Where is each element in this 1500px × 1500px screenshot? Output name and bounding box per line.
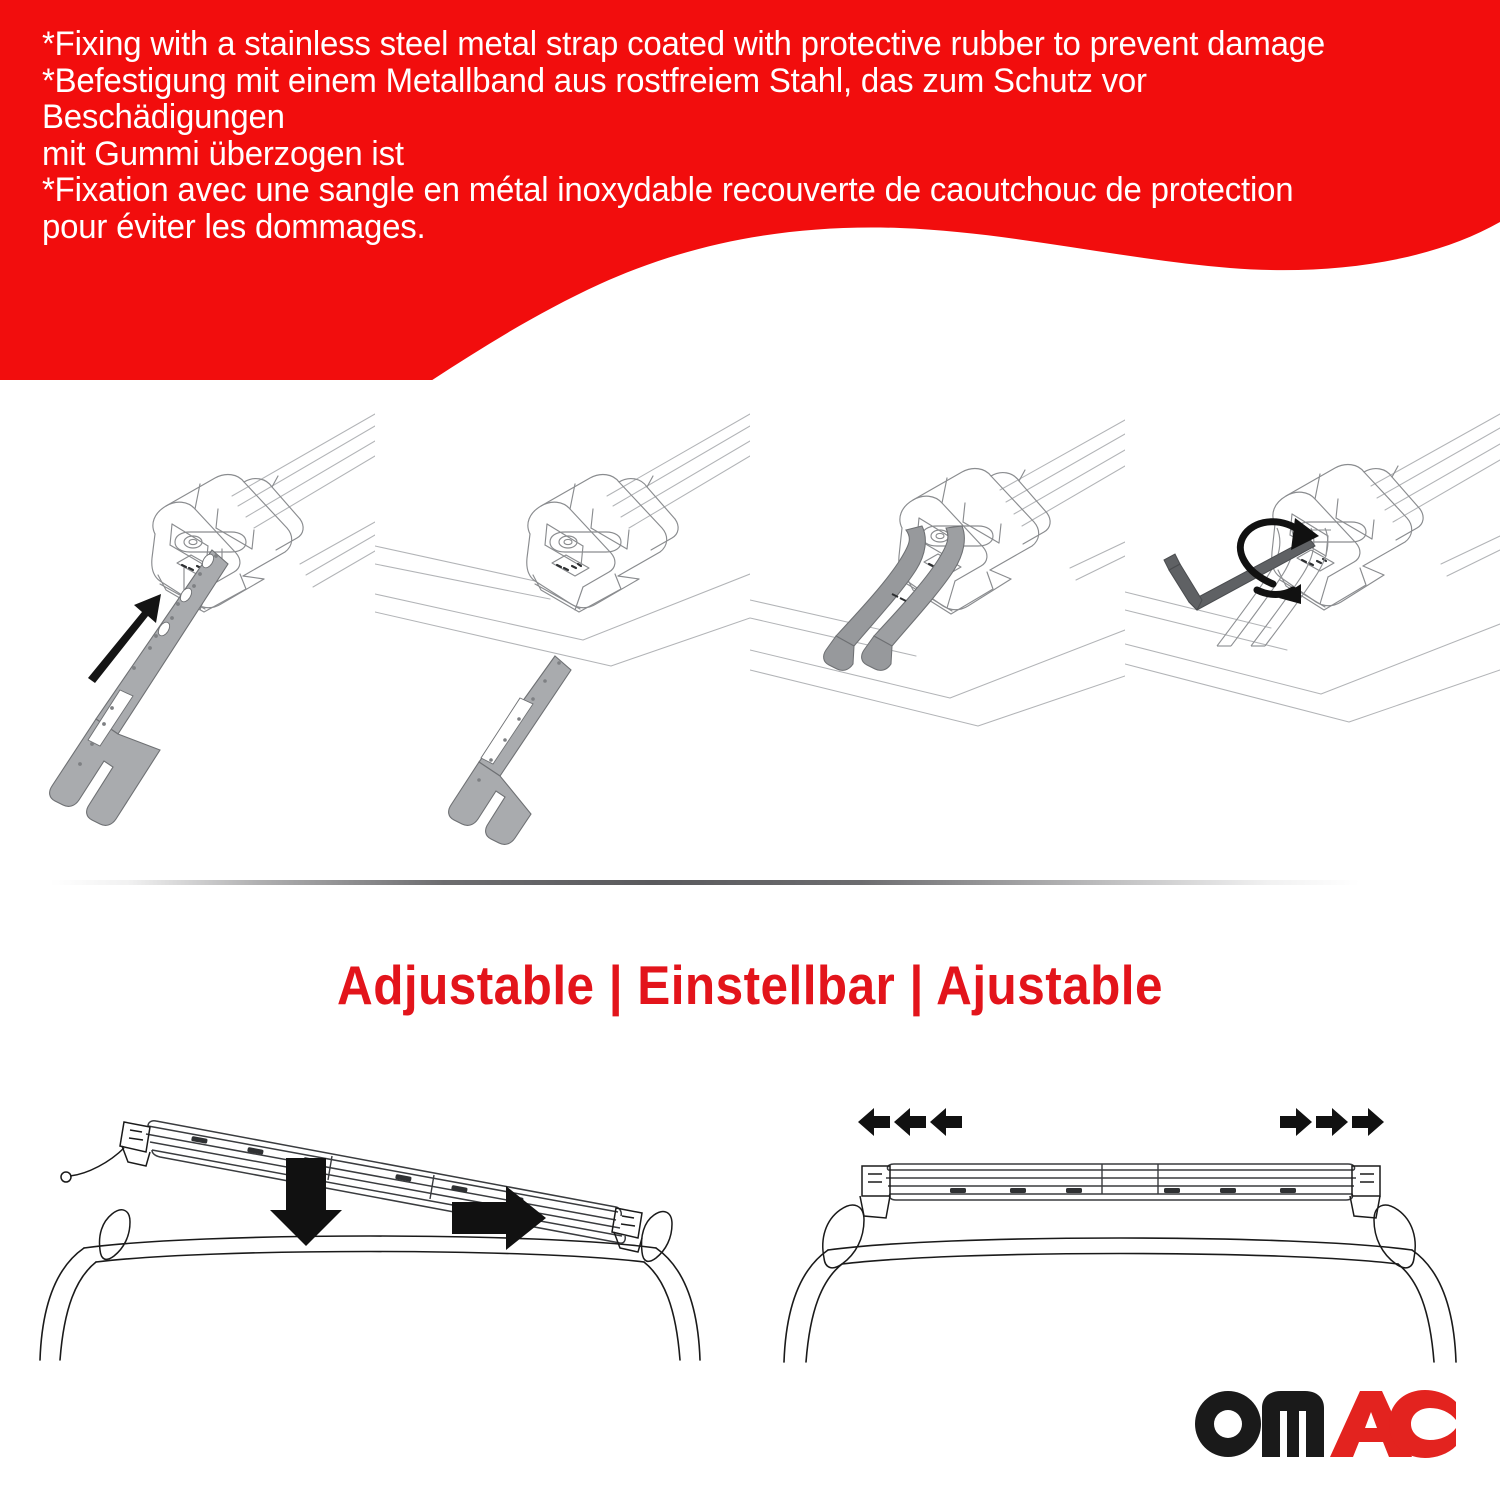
- roof-rail-lines: [232, 414, 375, 587]
- rack-foot-outline: [152, 475, 292, 612]
- adjustable-diagrams-row: [0, 1070, 1500, 1370]
- installation-step-4: [1125, 378, 1500, 858]
- rack-foot-outline: [527, 475, 678, 612]
- crossbar-foot-left: [860, 1166, 890, 1218]
- car-roof-outline: [40, 1236, 700, 1360]
- adjust-diagram-height-slide: [0, 1070, 750, 1370]
- installation-step-2: [375, 378, 750, 858]
- installation-step-3: [750, 378, 1125, 858]
- crossbar-tread-pads: [191, 1136, 524, 1203]
- header-banner: *Fixing with a stainless steel metal str…: [0, 0, 1500, 380]
- logo-letter-o: [1195, 1391, 1261, 1457]
- logo-letter-m: [1262, 1391, 1324, 1457]
- omac-logo: [1190, 1384, 1458, 1458]
- foot-label-marks: [557, 564, 581, 570]
- adjustable-heading: Adjustable | Einstellbar | Ajustable: [75, 955, 1425, 1015]
- logo-letter-c: [1389, 1390, 1456, 1458]
- installation-steps-row: [0, 378, 1500, 858]
- car-roof-outline: [784, 1238, 1456, 1362]
- hanging-strap-wire: [61, 1148, 124, 1182]
- triple-left-arrow-icon: [858, 1108, 962, 1136]
- banner-description-text: *Fixing with a stainless steel metal str…: [42, 26, 1398, 245]
- crossbar-tread-pads: [950, 1188, 1296, 1193]
- adjust-diagram-width: [750, 1070, 1500, 1370]
- metal-strap: [50, 550, 228, 825]
- down-arrow-icon: [270, 1158, 342, 1246]
- metal-strap: [449, 656, 571, 844]
- crossbar-installed: [886, 1164, 1356, 1200]
- triple-right-arrow-icon: [1280, 1108, 1384, 1136]
- installation-step-1: [0, 378, 375, 858]
- crossbar-telescope-joints: [1102, 1164, 1158, 1194]
- roof-rail-lines: [375, 414, 750, 666]
- crossbar-foot-left: [120, 1122, 150, 1166]
- section-divider: [50, 880, 1360, 885]
- crossbar-tilted: [146, 1121, 625, 1243]
